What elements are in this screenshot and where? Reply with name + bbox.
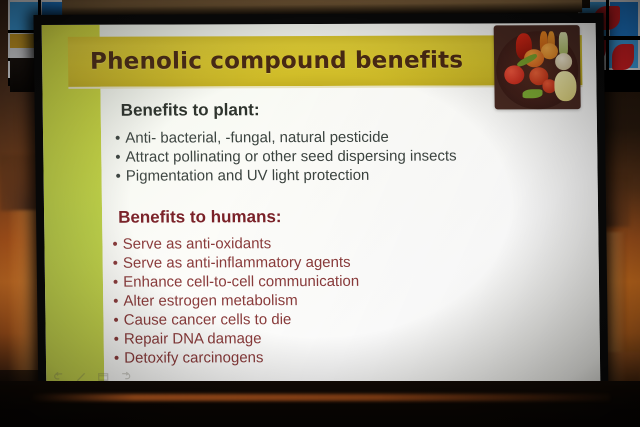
list-item: •Pigmentation and UV light protection bbox=[115, 165, 585, 186]
list-item-label: Enhance cell-to-cell communication bbox=[123, 273, 359, 291]
projection-screen: Phenolic compound benefits bbox=[33, 13, 608, 401]
human-benefits-list: •Serve as anti-oxidants •Serve as anti-i… bbox=[116, 233, 588, 368]
floor-area bbox=[0, 381, 640, 427]
slide-title: Phenolic compound benefits bbox=[90, 48, 463, 75]
list-item: •Detoxify carcinogens bbox=[114, 347, 588, 368]
floor-light-edge bbox=[30, 394, 610, 401]
tomato-icon bbox=[504, 65, 524, 84]
list-item: •Serve as anti-oxidants bbox=[112, 233, 586, 254]
bullet-icon: • bbox=[113, 255, 118, 272]
section-heading-humans: Benefits to humans: bbox=[118, 206, 586, 228]
section-heading-plant: Benefits to plant: bbox=[121, 99, 585, 121]
plant-benefits-list: •Anti- bacterial, -fungal, natural pesti… bbox=[115, 127, 586, 186]
bullet-icon: • bbox=[115, 168, 120, 185]
list-item: •Alter estrogen metabolism bbox=[113, 290, 587, 311]
bullet-icon: • bbox=[113, 274, 118, 291]
list-item: •Cause cancer cells to die bbox=[113, 309, 587, 330]
list-item: •Repair DNA damage bbox=[114, 328, 588, 349]
bullet-icon: • bbox=[114, 350, 119, 367]
list-item-label: Pigmentation and UV light protection bbox=[126, 167, 370, 185]
list-item: •Attract pollinating or other seed dispe… bbox=[115, 146, 585, 167]
bullet-icon: • bbox=[115, 130, 120, 147]
list-item: •Anti- bacterial, -fungal, natural pesti… bbox=[115, 127, 585, 148]
bullet-icon: • bbox=[113, 312, 118, 329]
bullet-icon: • bbox=[114, 331, 119, 348]
list-item-label: Repair DNA damage bbox=[124, 330, 262, 347]
presentation-slide: Phenolic compound benefits bbox=[42, 23, 601, 389]
onion-icon bbox=[555, 53, 572, 70]
list-item-label: Cause cancer cells to die bbox=[124, 311, 292, 329]
list-item-label: Serve as anti-inflammatory agents bbox=[123, 254, 351, 272]
list-item-label: Anti- bacterial, -fungal, natural pestic… bbox=[125, 129, 389, 147]
list-item: •Serve as anti-inflammatory agents bbox=[113, 252, 587, 273]
list-item-label: Detoxify carcinogens bbox=[124, 349, 263, 366]
bullet-icon: • bbox=[112, 236, 117, 253]
list-item-label: Alter estrogen metabolism bbox=[123, 292, 297, 310]
slide-content: Benefits to plant: •Anti- bacterial, -fu… bbox=[115, 95, 589, 381]
list-item: •Enhance cell-to-cell communication bbox=[113, 271, 587, 292]
bullet-icon: • bbox=[115, 149, 120, 166]
list-item-label: Attract pollinating or other seed disper… bbox=[125, 148, 456, 166]
bullet-icon: • bbox=[113, 293, 118, 310]
room-photograph: Phenolic compound benefits bbox=[0, 0, 640, 427]
list-item-label: Serve as anti-oxidants bbox=[123, 235, 272, 253]
